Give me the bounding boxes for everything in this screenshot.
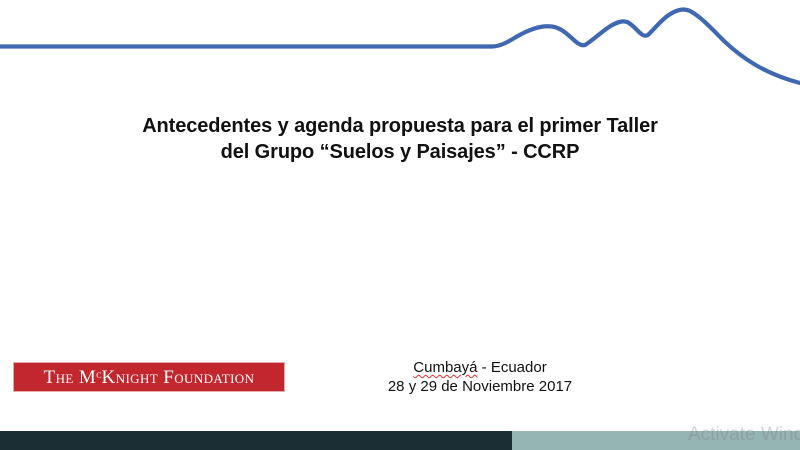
logo-word-the: The [44, 367, 79, 388]
decorative-mountain-line-icon [0, 0, 800, 90]
title-line-1: Antecedentes y agenda propuesta para el … [0, 113, 800, 139]
venue-location-line: Cumbayá - Ecuador [330, 358, 630, 377]
venue-date-line: 28 y 29 de Noviembre 2017 [330, 377, 630, 396]
venue-separator: - [477, 359, 490, 376]
activate-windows-watermark: Activate Windo [688, 424, 800, 446]
footer-bar-dark [0, 431, 512, 450]
logo-text: The McKnight Foundation [44, 368, 255, 387]
presentation-slide: Antecedentes y agenda propuesta para el … [0, 0, 800, 450]
venue-country: Ecuador [491, 359, 547, 376]
logo-word-knight: Knight [102, 367, 164, 388]
page-title: Antecedentes y agenda propuesta para el … [0, 113, 800, 165]
title-line-2: del Grupo “Suelos y Paisajes” - CCRP [0, 139, 800, 165]
venue-and-date: Cumbayá - Ecuador 28 y 29 de Noviembre 2… [330, 358, 630, 396]
logo-word-foundation: Foundation [163, 367, 254, 388]
venue-city: Cumbayá [413, 359, 477, 376]
mcknight-foundation-logo: The McKnight Foundation [13, 362, 285, 392]
logo-word-mc: M [79, 367, 96, 388]
